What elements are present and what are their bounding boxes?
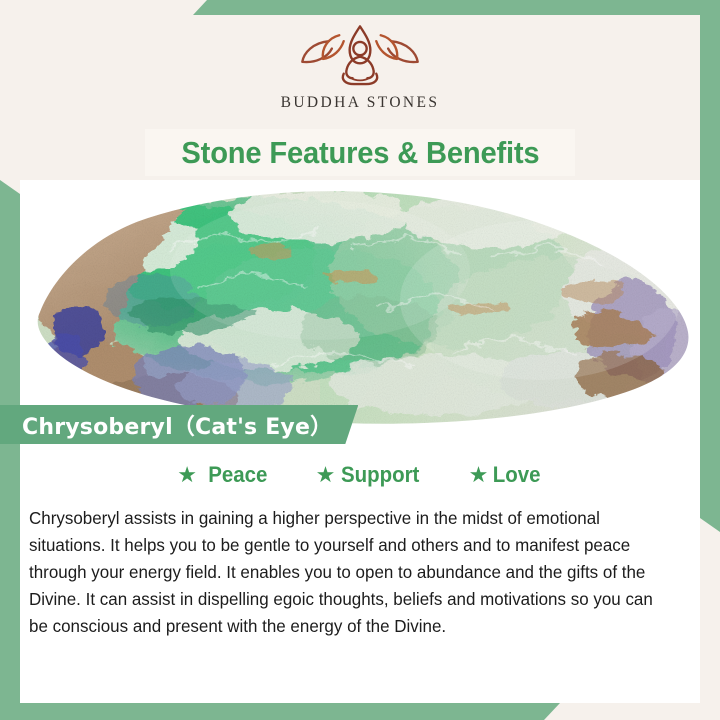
stone-photo (20, 180, 700, 440)
stone-name-label: Chrysoberyl（Cat's Eye） (0, 405, 358, 444)
star-icon: ★ (177, 464, 197, 486)
frame-band-top (193, 0, 720, 15)
stone-info-poster: BUDDHA STONES (0, 0, 720, 720)
brand-block: BUDDHA STONES (0, 16, 720, 112)
benefit-item-love: ★ Love (469, 462, 543, 488)
lotus-meditation-figure-icon (285, 16, 435, 90)
benefit-item-peace: ★ Peace (177, 462, 269, 488)
page-title: Stone Features & Benefits (181, 135, 539, 171)
brand-name: BUDDHA STONES (0, 94, 720, 112)
title-banner: Stone Features & Benefits (145, 129, 575, 176)
benefit-label: Support (341, 462, 419, 488)
frame-band-bottom (0, 703, 560, 720)
benefit-item-support: ★ Support (316, 462, 423, 488)
description-text: Chrysoberyl assists in gaining a higher … (29, 505, 671, 640)
benefit-label: Peace (208, 462, 267, 488)
benefit-label: Love (493, 462, 541, 488)
star-icon: ★ (316, 464, 336, 486)
star-icon: ★ (469, 464, 489, 486)
benefits-row: ★ Peace ★ Support ★ Love (20, 462, 700, 488)
stone-name-text: Chrysoberyl（Cat's Eye） (22, 409, 332, 441)
